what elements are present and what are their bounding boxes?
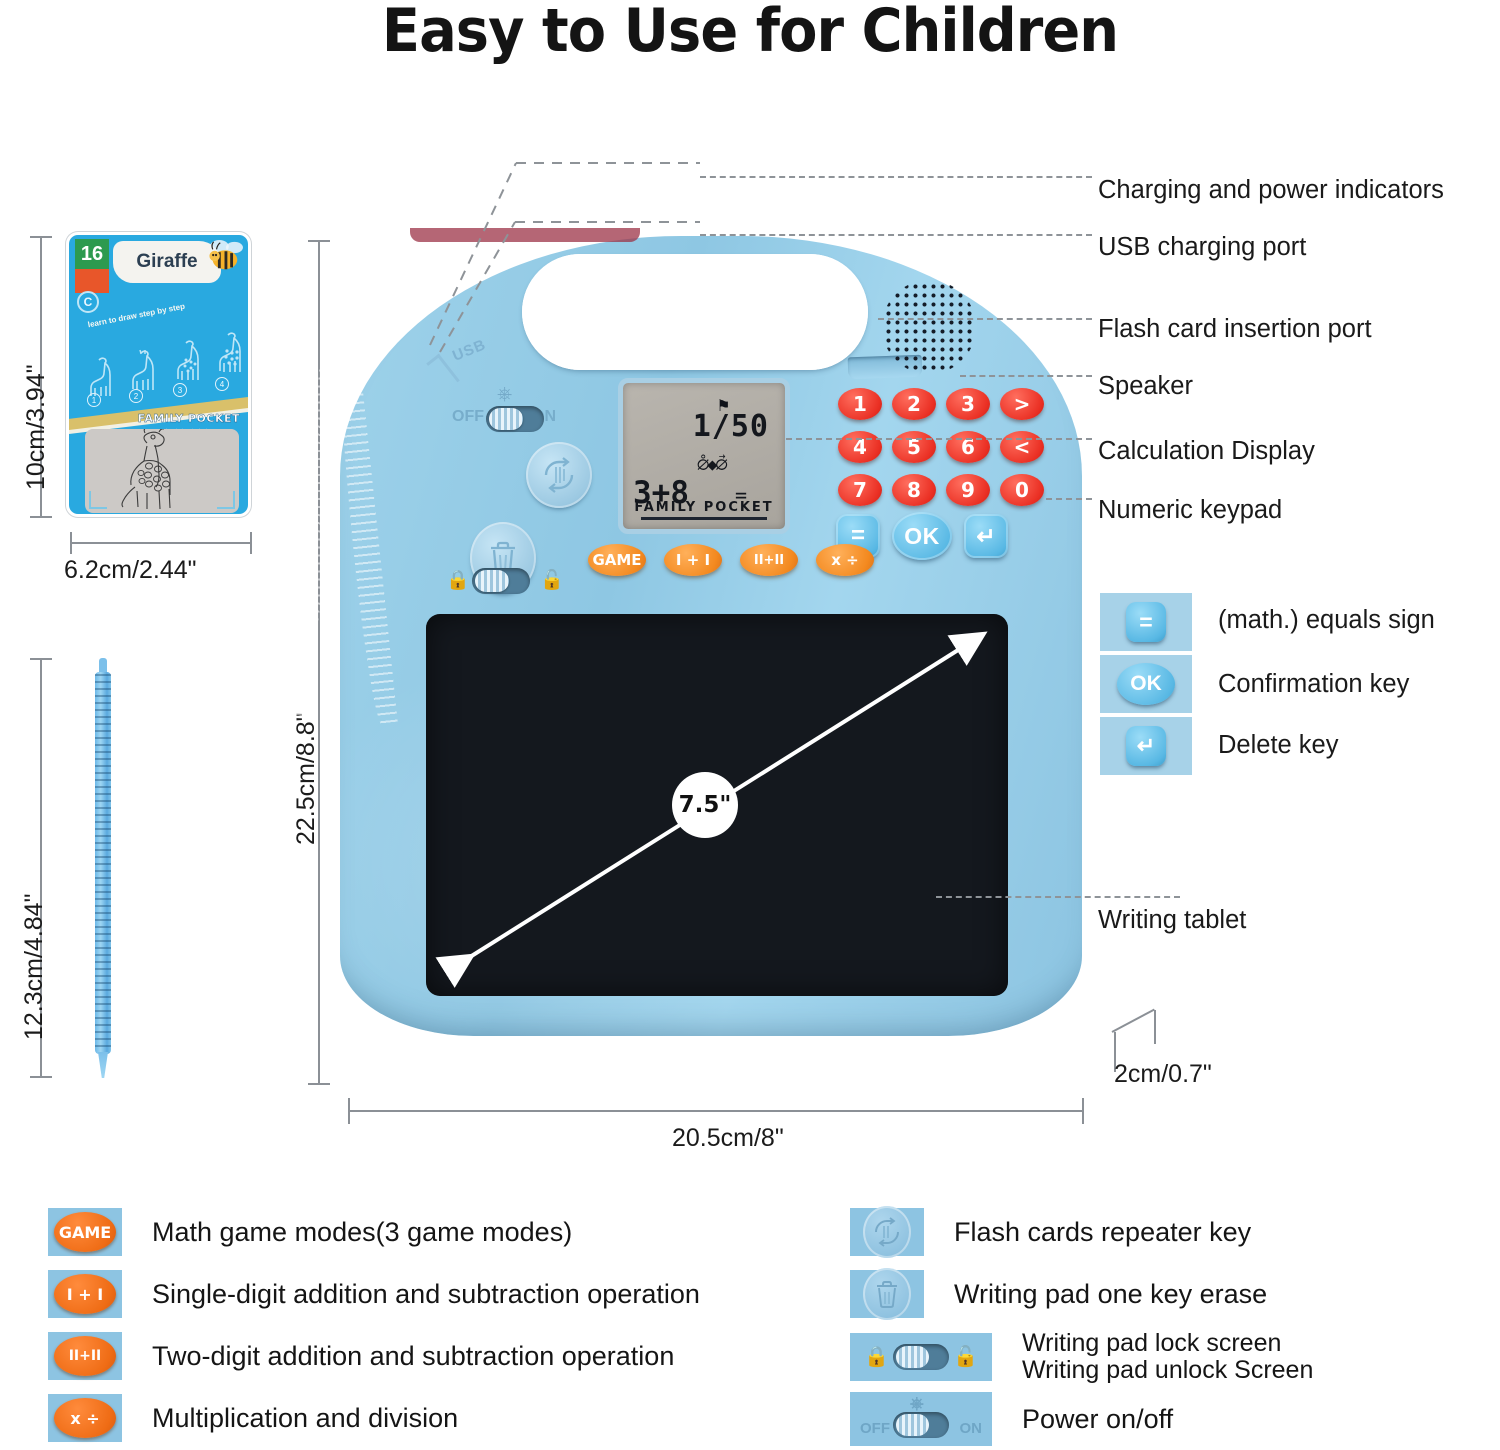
- bowtie-icon: ⦲◆⦳: [697, 455, 726, 475]
- device-width-dim-line: [348, 1110, 1084, 1112]
- power-off-label: OFF: [452, 408, 484, 426]
- multiply-divide-button-icon: x ÷: [54, 1398, 116, 1438]
- writing-tablet[interactable]: 7.5": [426, 614, 1008, 996]
- key-5[interactable]: 5: [892, 431, 936, 463]
- key-7[interactable]: 7: [838, 474, 882, 506]
- key-0[interactable]: 0: [1000, 474, 1044, 506]
- callout-leader-keypad: [1046, 498, 1092, 500]
- flashcard-number-accent: [75, 269, 109, 293]
- callout-label-charging-indicators: Charging and power indicators: [1098, 176, 1444, 205]
- key-legend-label-ok: Confirmation key: [1218, 670, 1409, 699]
- legend-label-erase: Writing pad one key erase: [954, 1279, 1267, 1310]
- flashcard-height-tick-bottom: [30, 516, 52, 518]
- flashcard-instruction: learn to draw step by step: [87, 302, 186, 330]
- ok-key[interactable]: OK: [892, 512, 952, 560]
- stylus-height-label: 12.3cm/4.84": [20, 894, 49, 1040]
- legend-label-lock-line1: Writing pad lock screen: [1022, 1330, 1313, 1357]
- ok-key-icon: OK: [1117, 663, 1175, 705]
- multiply-divide-button-thumbnail: x ÷: [48, 1394, 122, 1442]
- device-width-tick-right: [1082, 1098, 1084, 1124]
- flashcard-number: 16: [75, 239, 109, 269]
- flashcard-brand-name: FAMILY POCKET: [138, 412, 240, 425]
- lock-switch-icon: [893, 1344, 949, 1370]
- device-width-label: 20.5cm/8": [672, 1124, 784, 1153]
- calculation-display: ⚑ 1/50 ⦲◆⦳ 3+8 = FAMILY POCKET: [618, 378, 790, 534]
- flashcard-width-tick-left: [70, 532, 72, 554]
- legend-item-repeater: Flash cards repeater key: [850, 1208, 1251, 1256]
- equals-key-icon: =: [1126, 602, 1166, 642]
- key-legend-label-delete: Delete key: [1218, 731, 1338, 760]
- callout-leader-usb: [700, 234, 1092, 236]
- callout-label-flashcard-port: Flash card insertion port: [1098, 315, 1372, 344]
- callout-label-numeric-keypad: Numeric keypad: [1098, 496, 1282, 525]
- flash-card-repeater-button[interactable]: [526, 442, 592, 508]
- keypad-row: 4 5 6 <: [838, 431, 1050, 463]
- game-button-icon: GAME: [54, 1212, 116, 1252]
- power-icon: ⎈: [497, 384, 512, 406]
- flashcard-width-tick-right: [250, 532, 252, 554]
- stylus-tip: [98, 1052, 108, 1078]
- lcd-counter: 1/50: [693, 409, 769, 444]
- legend-label-lock: Writing pad lock screen Writing pad unlo…: [1022, 1330, 1313, 1383]
- flashcard-name-blob: Giraffe: [113, 241, 221, 283]
- keypad-row: 1 2 3 >: [838, 388, 1050, 420]
- delete-key[interactable]: ↵: [964, 514, 1008, 558]
- legend-label-lock-line2: Writing pad unlock Screen: [1022, 1357, 1313, 1384]
- power-icon: ⎈: [910, 1394, 924, 1414]
- writing-pad-lock-switch[interactable]: [472, 568, 530, 594]
- key-2[interactable]: 2: [892, 388, 936, 420]
- giraffe-outline-step1-icon: [85, 354, 119, 398]
- legend-item-lock: 🔒 🔓 Writing pad lock screen Writing pad …: [850, 1330, 1313, 1383]
- giraffe-drawing-icon: [85, 429, 239, 513]
- key-legend-label-equals: (math.) equals sign: [1218, 606, 1435, 635]
- erase-button-thumbnail: [850, 1270, 924, 1318]
- keypad-row: 7 8 9 0: [838, 474, 1050, 506]
- bee-icon: [206, 239, 244, 273]
- giraffe-outline-step3-icon: [171, 338, 207, 388]
- repeat-glyph-icon: [871, 1216, 903, 1248]
- draw-step: 3: [171, 338, 207, 393]
- trash-glyph-icon: [873, 1278, 901, 1310]
- flashcard-corner-ornament: [89, 491, 107, 509]
- single-digit-button-icon: I + I: [54, 1274, 116, 1314]
- stylus-ribs: [95, 674, 111, 1050]
- flashcard-corner-ornament: [217, 491, 235, 509]
- flashcard-height-label: 10cm/3.94": [22, 364, 51, 490]
- lock-closed-icon: 🔒: [446, 568, 470, 592]
- carry-handle-opening: [522, 254, 868, 370]
- legend-label-single-digit: Single-digit addition and subtraction op…: [152, 1279, 700, 1310]
- flashcard: 16 Giraffe C learn to draw step by step: [66, 232, 251, 517]
- legend-item-erase: Writing pad one key erase: [850, 1270, 1267, 1318]
- repeat-icon: [863, 1206, 911, 1258]
- power-switch-knob[interactable]: [489, 408, 523, 430]
- flashcard-height-tick-top: [30, 236, 52, 238]
- repeat-icon: [538, 454, 580, 496]
- giraffe-outline-step2-icon: [127, 348, 161, 394]
- device-height-tick-top: [308, 240, 330, 242]
- key-greater-than[interactable]: >: [1000, 388, 1044, 420]
- lcd-brand: FAMILY POCKET: [623, 500, 785, 515]
- trash-icon: [863, 1268, 911, 1320]
- lock-closed-icon: 🔒: [864, 1344, 889, 1369]
- single-digit-button-thumbnail: I + I: [48, 1270, 122, 1318]
- draw-step: 2: [127, 348, 161, 399]
- device-thickness-leader: [1112, 1009, 1155, 1033]
- legend-item-power: ⎈ OFF ON Power on/off: [850, 1392, 1173, 1446]
- two-digit-button-thumbnail: II+II: [48, 1332, 122, 1380]
- draw-step: 4: [213, 330, 249, 387]
- ok-key-thumbnail: OK: [1100, 655, 1192, 713]
- copyright-badge-icon: C: [77, 291, 99, 313]
- legend-label-game: Math game modes(3 game modes): [152, 1217, 572, 1248]
- power-switch[interactable]: [486, 406, 544, 432]
- callout-label-writing-tablet: Writing tablet: [1098, 906, 1246, 935]
- callout-leader-charging: [700, 176, 1092, 178]
- flashcard-draw-steps: 1 2: [79, 327, 247, 405]
- key-6[interactable]: 6: [946, 431, 990, 463]
- device-thickness-label: 2cm/0.7": [1114, 1060, 1212, 1089]
- flashcard-width-dim-line: [70, 542, 252, 544]
- lock-open-icon: 🔓: [953, 1344, 978, 1369]
- game-button-thumbnail: GAME: [48, 1208, 122, 1256]
- two-digit-button[interactable]: II+II: [740, 544, 798, 576]
- repeater-button-thumbnail: [850, 1208, 924, 1256]
- page-title: Easy to Use for Children: [53, 0, 1448, 66]
- flashcard-drawing-area: [85, 429, 239, 513]
- equals-key-thumbnail: =: [1100, 593, 1192, 651]
- diagonal-size-badge: 7.5": [672, 772, 738, 838]
- legend-label-repeater: Flash cards repeater key: [954, 1217, 1251, 1248]
- callout-label-usb-port: USB charging port: [1098, 233, 1306, 262]
- flashcard-width-label: 6.2cm/2.44": [64, 556, 197, 585]
- legend-label-multiply-divide: Multiplication and division: [152, 1403, 458, 1434]
- power-switch-knob-icon: [896, 1414, 929, 1436]
- power-off-label: OFF: [860, 1420, 890, 1437]
- delete-key-icon: ↵: [1126, 726, 1166, 766]
- device-foot: [410, 228, 640, 242]
- key-9[interactable]: 9: [946, 474, 990, 506]
- draw-step-number: 4: [215, 377, 229, 391]
- callout-leader-flashcard-port: [878, 318, 1092, 320]
- legend-item-single-digit: I + I Single-digit addition and subtract…: [48, 1270, 700, 1318]
- callout-leader-speaker: [960, 375, 1092, 377]
- key-4[interactable]: 4: [838, 431, 882, 463]
- legend-label-two-digit: Two-digit addition and subtraction opera…: [152, 1341, 674, 1372]
- key-less-than[interactable]: <: [1000, 431, 1044, 463]
- draw-step-number: 2: [129, 389, 143, 403]
- single-digit-button[interactable]: I + I: [664, 544, 722, 576]
- draw-step-number: 1: [87, 393, 101, 407]
- stylus: [90, 658, 116, 1078]
- lock-switch-thumbnail: 🔒 🔓: [850, 1333, 992, 1381]
- device-height-label: 22.5cm/8.8": [292, 712, 321, 845]
- speaker-icon: [882, 280, 976, 374]
- callout-label-calculation-display: Calculation Display: [1098, 437, 1315, 466]
- flashcard-name: Giraffe: [136, 251, 197, 273]
- lock-switch-knob[interactable]: [475, 570, 509, 592]
- stylus-height-tick-top: [30, 658, 52, 660]
- draw-step: 1: [85, 354, 119, 403]
- callout-label-speaker: Speaker: [1098, 372, 1193, 401]
- legend-item-game: GAME Math game modes(3 game modes): [48, 1208, 572, 1256]
- lock-switch-knob-icon: [896, 1346, 929, 1368]
- device-height-tick-bottom: [308, 1083, 330, 1085]
- device-thickness-tick-right: [1154, 1010, 1156, 1044]
- callout-leader-writing-tablet: [936, 896, 1180, 898]
- legend-item-multiply-divide: x ÷ Multiplication and division: [48, 1394, 458, 1442]
- giraffe-outline-step4-icon: [213, 330, 249, 382]
- key-8[interactable]: 8: [892, 474, 936, 506]
- lcd-underline: [641, 517, 767, 520]
- legend-label-power: Power on/off: [1022, 1404, 1173, 1435]
- two-digit-button-icon: II+II: [54, 1336, 116, 1376]
- power-switch-icon: [893, 1412, 949, 1438]
- draw-step-number: 3: [173, 383, 187, 397]
- game-button[interactable]: GAME: [588, 544, 646, 576]
- power-switch-thumbnail: ⎈ OFF ON: [850, 1392, 992, 1446]
- numeric-keypad[interactable]: 1 2 3 > 4 5 6 < 7 8 9 0: [838, 388, 1050, 517]
- key-1[interactable]: 1: [838, 388, 882, 420]
- delete-key-thumbnail: ↵: [1100, 717, 1192, 775]
- function-button-row: GAME I + I II+II x ÷: [588, 544, 874, 576]
- device-width-tick-left: [348, 1098, 350, 1124]
- key-3[interactable]: 3: [946, 388, 990, 420]
- lock-open-icon: 🔓: [540, 568, 564, 592]
- power-on-label: ON: [960, 1420, 983, 1437]
- callout-leader-display: [786, 438, 1092, 440]
- stylus-height-tick-bottom: [30, 1076, 52, 1078]
- legend-item-two-digit: II+II Two-digit addition and subtraction…: [48, 1332, 674, 1380]
- multiply-divide-button[interactable]: x ÷: [816, 544, 874, 576]
